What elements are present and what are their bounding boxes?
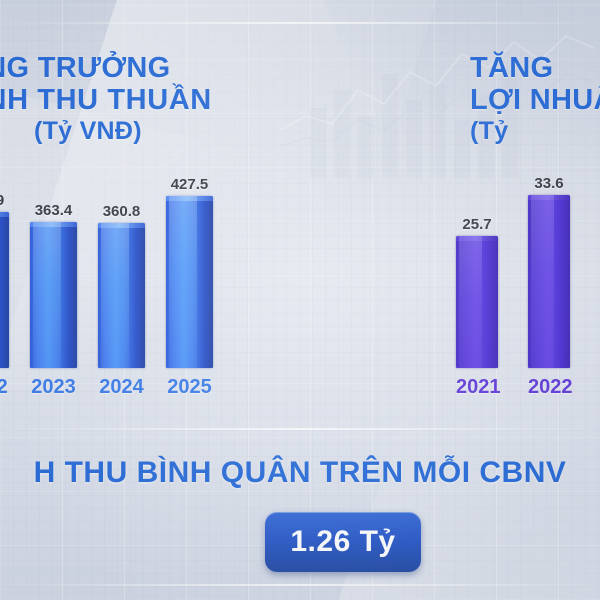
bar-value-label: 360.8 [98, 203, 145, 220]
bar-cap [456, 236, 498, 241]
left-title-line-1: ĂNG TRƯỞNG [0, 52, 212, 84]
right-title-line-1: TĂNG [470, 52, 600, 84]
right-title-line-2: LỢI NHUẬ [470, 84, 600, 116]
bottom-banner-text: H THU BÌNH QUÂN TRÊN MỖI CBNV [0, 452, 600, 494]
bar-cap [166, 196, 213, 201]
revenue-bar-chart: 387.92022363.42023360.82024427.52025 [0, 178, 262, 393]
bar-year-label-2022: 2022 [528, 376, 570, 399]
slide-canvas: ĂNG TRƯỞNG ANH THU THUẦN (Tỷ VNĐ) TĂNG L… [0, 0, 600, 600]
bar-group-2022: 387.92022 [0, 178, 9, 402]
background-streak-mid [0, 428, 600, 430]
bar-year-label-2025: 2025 [166, 376, 213, 399]
bar-2023 [30, 222, 77, 368]
left-chart-title: ĂNG TRƯỞNG ANH THU THUẦN (Tỷ VNĐ) [0, 52, 212, 145]
bar-group-2025: 427.52025 [166, 178, 213, 402]
bar-cap [0, 212, 9, 217]
highlight-badge: 1.26 Tỷ [265, 512, 421, 572]
bar-value-label: 33.6 [528, 175, 570, 192]
bar-cap [98, 223, 145, 228]
bar-2022 [0, 212, 9, 368]
bar-year-label-2023: 2023 [30, 376, 77, 399]
bar-cap [528, 195, 570, 200]
bar-2024 [98, 223, 145, 368]
left-title-line-3: (Tỷ VNĐ) [0, 117, 212, 145]
bar-year-label-2021: 2021 [456, 376, 498, 399]
bar-value-label: 387.9 [0, 192, 9, 209]
bar-2025 [166, 196, 213, 368]
bar-value-label: 25.7 [456, 216, 498, 233]
bar-value-label: 427.5 [166, 176, 213, 193]
bar-group-2024: 360.82024 [98, 178, 145, 402]
bar-2022 [528, 195, 570, 368]
background-streak-top [0, 22, 600, 24]
profit-bar-chart: 25.7202133.62022 [448, 178, 600, 393]
background-streak-bottom [0, 584, 600, 586]
bar-value-label: 363.4 [30, 202, 77, 219]
bar-year-label-2024: 2024 [98, 376, 145, 399]
bar-2021 [456, 236, 498, 368]
right-chart-title: TĂNG LỢI NHUẬ (Tỷ [470, 52, 600, 145]
right-title-line-3: (Tỷ [470, 117, 600, 145]
bar-group-2021: 25.72021 [456, 178, 498, 402]
left-title-line-2: ANH THU THUẦN [0, 84, 212, 116]
bar-cap [30, 222, 77, 227]
bar-group-2023: 363.42023 [30, 178, 77, 402]
bar-group-2022: 33.62022 [528, 178, 570, 402]
bar-year-label-2022: 2022 [0, 376, 9, 399]
badge-value: 1.26 Tỷ [290, 525, 395, 559]
